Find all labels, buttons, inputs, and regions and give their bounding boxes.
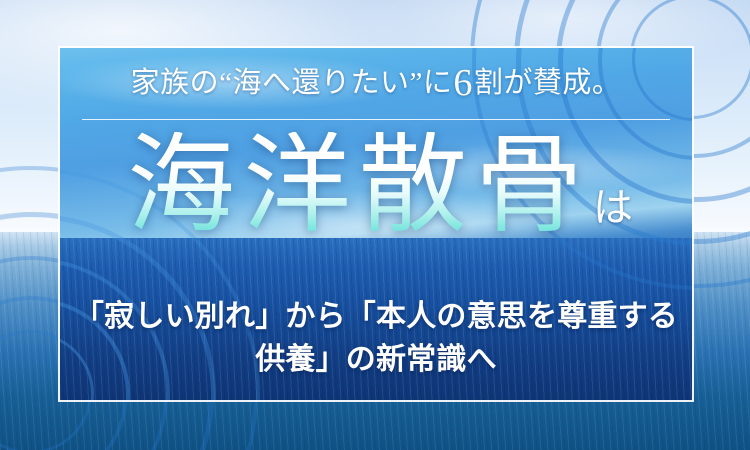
subtitle: 「寂しい別れ」から「本人の意思を尊重する 供養」の新常識へ [60,296,692,381]
lead-number: 6 [452,62,474,104]
framed-panel: 家族の“海へ還りたい”に6割が賛成。 海洋散骨 は 「寂しい別れ」から「本人の意… [58,46,694,402]
lead-text-after: 割が賛成。 [474,67,622,99]
main-title: 海洋散骨 [119,132,591,242]
divider-rule [82,119,670,120]
lead-text-before: 家族の“海へ還りたい”に [131,67,453,99]
main-title-row: 海洋散骨 は [60,132,692,242]
panel-content: 家族の“海へ還りたい”に6割が賛成。 海洋散骨 は 「寂しい別れ」から「本人の意… [60,48,692,400]
subtitle-line-2: 供養」の新常識へ [60,339,692,382]
main-title-suffix: は [593,188,633,228]
lead-headline: 家族の“海へ還りたい”に6割が賛成。 [60,64,692,102]
ocean-scattering-banner: 家族の“海へ還りたい”に6割が賛成。 海洋散骨 は 「寂しい別れ」から「本人の意… [0,0,750,450]
subtitle-line-1: 「寂しい別れ」から「本人の意思を尊重する [60,296,692,339]
